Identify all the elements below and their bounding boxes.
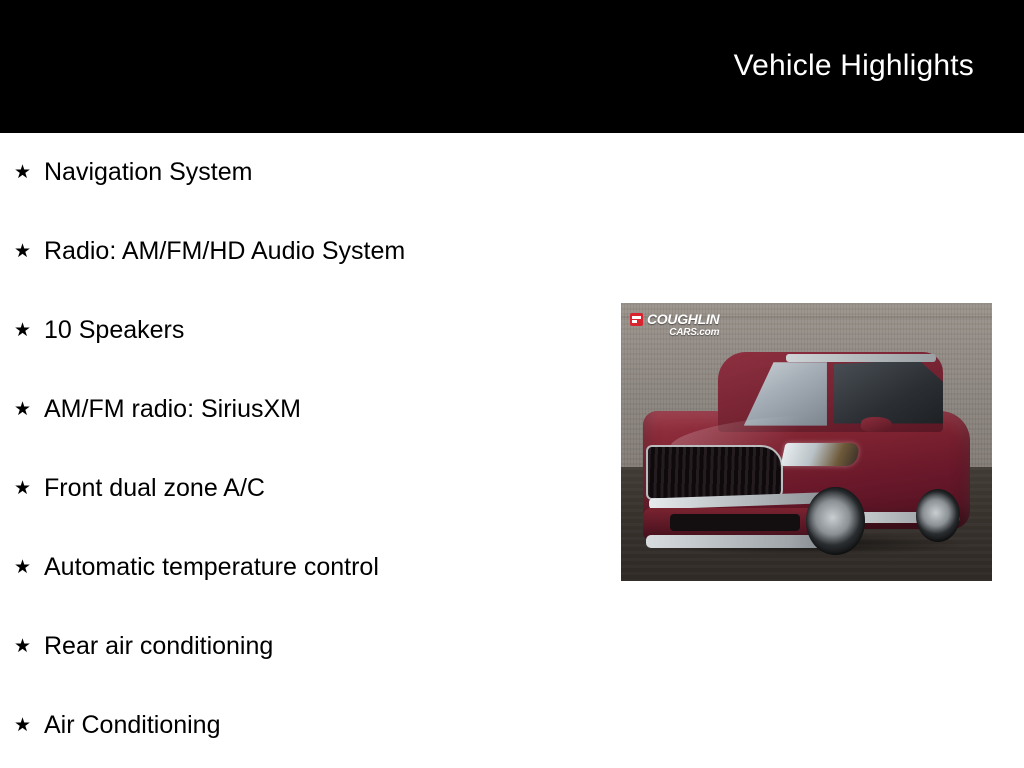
highlight-label: Radio: AM/FM/HD Audio System — [44, 237, 405, 266]
vehicle-highlights-list: ★ Navigation System ★ Radio: AM/FM/HD Au… — [0, 133, 600, 765]
highlight-label: Air Conditioning — [44, 711, 221, 740]
list-item: ★ Front dual zone A/C — [0, 449, 600, 528]
list-item: ★ AM/FM radio: SiriusXM — [0, 370, 600, 449]
watermark-domain: CARS.com — [647, 328, 719, 338]
star-icon: ★ — [14, 637, 44, 656]
watermark-brand: COUGHLIN — [647, 312, 719, 326]
dealer-watermark: COUGHLIN CARS.com — [630, 312, 719, 338]
header-bar: Vehicle Highlights — [0, 0, 1024, 133]
vehicle-air-intake — [670, 514, 800, 531]
vehicle-side-window — [834, 360, 943, 423]
vehicle-front-wheel — [806, 487, 864, 555]
highlight-label: AM/FM radio: SiriusXM — [44, 395, 301, 424]
watermark-text: COUGHLIN CARS.com — [647, 312, 719, 338]
vehicle-grille — [646, 445, 783, 500]
star-icon: ★ — [14, 242, 44, 261]
vehicle-rear-wheel — [916, 489, 960, 542]
vehicle-side-mirror — [861, 417, 892, 432]
list-item: ★ Navigation System — [0, 133, 600, 212]
list-item: ★ Radio: AM/FM/HD Audio System — [0, 212, 600, 291]
page-title: Vehicle Highlights — [734, 50, 974, 82]
coughlin-logo-icon — [630, 313, 643, 326]
highlight-label: Front dual zone A/C — [44, 474, 265, 503]
vehicle-roof-rail — [786, 354, 936, 362]
list-item: ★ Rear air conditioning — [0, 607, 600, 686]
star-icon: ★ — [14, 163, 44, 182]
list-item: ★ 10 Speakers — [0, 291, 600, 370]
star-icon: ★ — [14, 400, 44, 419]
star-icon: ★ — [14, 716, 44, 735]
highlight-label: Automatic temperature control — [44, 553, 379, 582]
star-icon: ★ — [14, 479, 44, 498]
vehicle-illustration — [636, 347, 977, 558]
star-icon: ★ — [14, 321, 44, 340]
vehicle-headlight — [780, 443, 860, 466]
star-icon: ★ — [14, 558, 44, 577]
list-item: ★ Automatic temperature control — [0, 528, 600, 607]
highlight-label: 10 Speakers — [44, 316, 184, 345]
highlight-label: Rear air conditioning — [44, 632, 273, 661]
vehicle-photo[interactable]: COUGHLIN CARS.com — [621, 303, 992, 581]
list-item: ★ Air Conditioning — [0, 686, 600, 765]
highlight-label: Navigation System — [44, 158, 252, 187]
